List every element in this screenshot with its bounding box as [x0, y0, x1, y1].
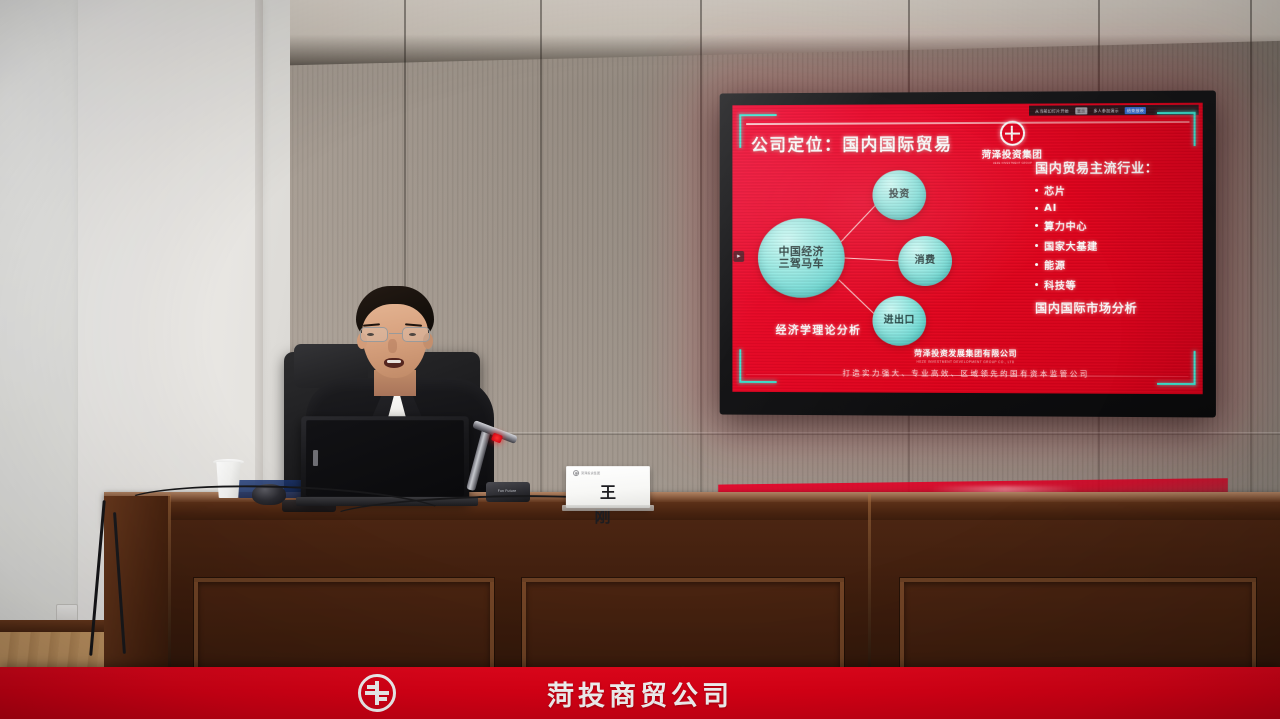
banner-title: 菏投商贸公司: [547, 674, 733, 713]
market-analysis-label: 国内国际市场分析: [1035, 299, 1199, 316]
industry-item-label: 算力中心: [1044, 218, 1087, 233]
industry-item-label: 科技等: [1044, 277, 1076, 292]
wall-seam: [700, 0, 702, 560]
nameplate-brand: 菏泽投资集团: [573, 470, 600, 476]
conference-room-scene: 从当前幻灯片开始 显示 多人参加演示 结束放映 公司定位：国内国际贸易 菏泽投资…: [0, 0, 1280, 719]
list-item: 国家大基建: [1035, 237, 1199, 252]
diagram-caption: 经济学理论分析: [776, 322, 862, 338]
list-item: 算力中心: [1035, 218, 1199, 233]
bullet-icon: [1035, 263, 1038, 266]
heze-group-logo-icon: [999, 121, 1024, 146]
nameplate-name: 王 刚: [566, 479, 650, 527]
ppt-toolbar-chip-3[interactable]: 结束放映: [1125, 107, 1146, 114]
list-item: 能源: [1035, 257, 1199, 272]
microphone-brand-label: Fun Future: [490, 489, 524, 493]
diagram-node-center-line2: 三驾马车: [779, 258, 824, 270]
industry-list-panel: 国内贸易主流行业： 芯片 AI 算力中心: [1035, 157, 1199, 316]
laptop-brand-logo-icon: [313, 450, 318, 466]
slide-title: 公司定位：国内国际贸易: [751, 130, 952, 156]
diagram-node-investment: 投资: [872, 170, 926, 220]
heze-group-logo-icon: [358, 674, 396, 712]
ppt-toolbar-chip-0[interactable]: 从当前幻灯片开始: [1033, 107, 1071, 114]
nameplate: 菏泽投资集团 王 刚: [566, 466, 650, 508]
heze-group-logo-icon: [573, 470, 579, 476]
bullet-icon: [1035, 224, 1038, 227]
list-item: AI: [1035, 202, 1199, 213]
slide-surface[interactable]: 从当前幻灯片开始 显示 多人参加演示 结束放映 公司定位：国内国际贸易 菏泽投资…: [732, 103, 1202, 395]
logo-company-cn: 菏泽投资集团: [982, 147, 1043, 161]
presentation-display[interactable]: 从当前幻灯片开始 显示 多人参加演示 结束放映 公司定位：国内国际贸易 菏泽投资…: [720, 90, 1216, 417]
presenter-nose: [388, 339, 397, 353]
nameplate-stand: [562, 505, 654, 511]
industry-item-label: 芯片: [1044, 183, 1066, 198]
diagram-node-trade: 进出口: [872, 296, 926, 346]
chevron-right-icon[interactable]: ▸: [733, 251, 744, 262]
industry-item-label: 能源: [1044, 257, 1066, 272]
industry-list-heading: 国内贸易主流行业：: [1035, 157, 1199, 177]
title-divider: [746, 121, 1189, 125]
wall-seam: [1250, 0, 1252, 560]
industry-item-label: 国家大基建: [1044, 237, 1098, 252]
industry-item-label: AI: [1044, 202, 1057, 213]
bullet-icon: [1035, 189, 1038, 192]
bottom-banner: 菏投商贸公司: [0, 667, 1280, 719]
list-item: 科技等: [1035, 277, 1199, 292]
ppt-toolbar-chip-2[interactable]: 多人参加演示: [1091, 107, 1120, 114]
bullet-icon: [1035, 206, 1038, 209]
ppt-toolbar-chip-1[interactable]: 显示: [1075, 107, 1087, 114]
wall-seam: [540, 0, 542, 560]
list-item: 芯片: [1035, 182, 1199, 197]
bullet-icon: [1035, 243, 1038, 246]
footer-tagline: 打造实力强大、专业高效、区域领先的国有资本监管公司: [732, 367, 1202, 380]
powerpoint-toolbar[interactable]: 从当前幻灯片开始 显示 多人参加演示 结束放映: [1029, 105, 1199, 116]
diagram-node-consumption: 消费: [898, 236, 952, 286]
footer-company-en: HEZE INVESTMENT DEVELOPMENT GROUP CO., L…: [732, 359, 1202, 365]
bullet-icon: [1035, 283, 1038, 286]
diagram-node-center: 中国经济 三驾马车: [758, 218, 845, 298]
industry-list: 芯片 AI 算力中心 国家大基建: [1035, 182, 1199, 291]
presenter-mouth: [384, 358, 404, 368]
slide-footer: 菏泽投资发展集团有限公司 HEZE INVESTMENT DEVELOPMENT…: [732, 347, 1202, 380]
nameplate-brand-label: 菏泽投资集团: [581, 471, 600, 475]
footer-company-cn: 菏泽投资发展集团有限公司: [732, 347, 1202, 360]
